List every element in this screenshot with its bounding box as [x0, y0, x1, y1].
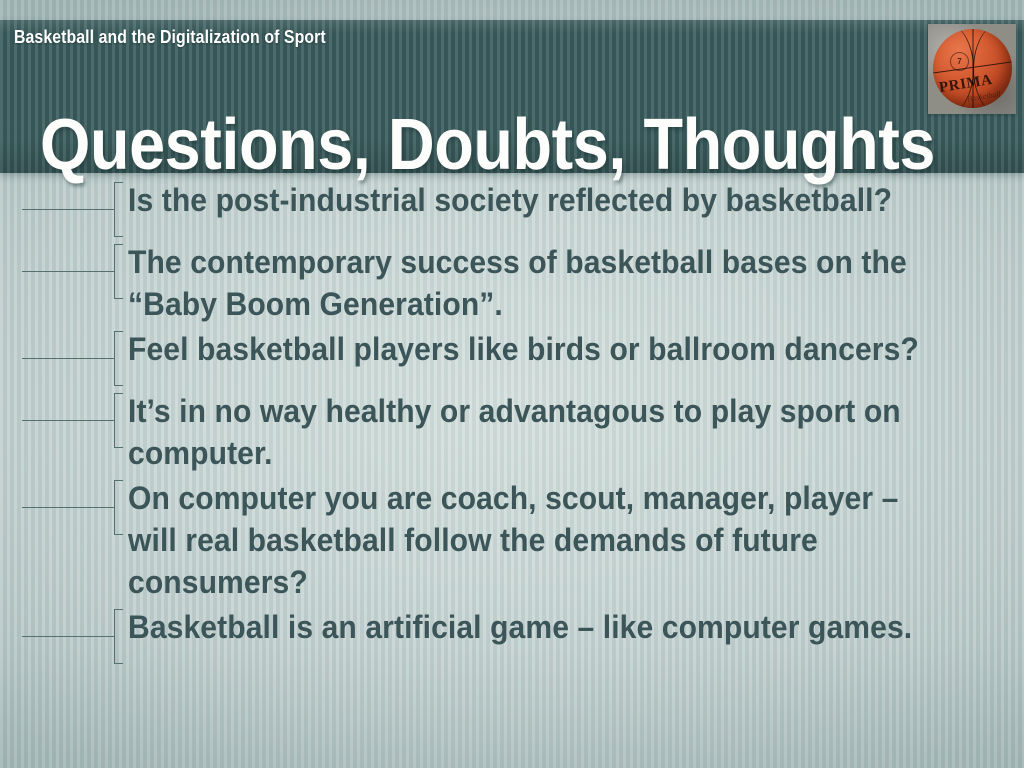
bracket-bullet-icon	[0, 393, 128, 449]
bullet-lead-line	[22, 420, 115, 421]
list-item: On computer you are coach, scout, manage…	[0, 480, 1024, 603]
list-item-text: On computer you are coach, scout, manage…	[128, 478, 970, 603]
bullet-bracket-top	[114, 244, 123, 245]
bullet-bracket-bottom	[114, 663, 123, 664]
bullet-bracket-top	[114, 480, 123, 481]
list-item: It’s in no way healthy or advantagous to…	[0, 393, 1024, 474]
presentation-slide: Basketball and the Digitalization of Spo…	[0, 0, 1024, 768]
basketball-photo: 7 PRIMA Basketball	[928, 24, 1016, 114]
bullet-bracket-stem	[114, 393, 115, 448]
list-item: Is the post-industrial society reflected…	[0, 182, 1024, 238]
list-item-text: Basketball is an artificial game – like …	[128, 607, 970, 649]
bullet-lead-line	[22, 271, 115, 272]
bullet-bracket-stem	[114, 331, 115, 386]
bracket-bullet-icon	[0, 244, 128, 300]
presentation-subtitle: Basketball and the Digitalization of Spo…	[14, 28, 326, 46]
list-item: Basketball is an artificial game – like …	[0, 609, 1024, 665]
bracket-bullet-icon	[0, 182, 128, 238]
list-item-text: Is the post-industrial society reflected…	[128, 180, 970, 222]
bullet-bracket-bottom	[114, 298, 123, 299]
list-item-text: It’s in no way healthy or advantagous to…	[128, 391, 970, 474]
bullet-bracket-stem	[114, 182, 115, 237]
list-item: The contemporary success of basketball b…	[0, 244, 1024, 325]
bracket-bullet-icon	[0, 609, 128, 665]
bullet-bracket-stem	[114, 480, 115, 535]
bullet-bracket-bottom	[114, 534, 123, 535]
list-item: Feel basketball players like birds or ba…	[0, 331, 1024, 387]
bullet-bracket-bottom	[114, 385, 123, 386]
bullet-list: Is the post-industrial society reflected…	[0, 182, 1024, 671]
page-title: Questions, Doubts, Thoughts	[40, 109, 935, 181]
bullet-bracket-top	[114, 182, 123, 183]
list-item-text: The contemporary success of basketball b…	[128, 242, 970, 325]
basketball-icon: 7 PRIMA Basketball	[933, 29, 1012, 108]
ball-size-stamp: 7	[950, 52, 969, 71]
bullet-lead-line	[22, 636, 115, 637]
bullet-bracket-bottom	[114, 236, 123, 237]
bullet-lead-line	[22, 507, 115, 508]
list-item-text: Feel basketball players like birds or ba…	[128, 329, 970, 371]
bullet-bracket-bottom	[114, 447, 123, 448]
bullet-bracket-top	[114, 393, 123, 394]
bullet-bracket-top	[114, 609, 123, 610]
bracket-bullet-icon	[0, 480, 128, 536]
bullet-lead-line	[22, 358, 115, 359]
bullet-bracket-stem	[114, 244, 115, 299]
bullet-bracket-stem	[114, 609, 115, 664]
bullet-lead-line	[22, 209, 115, 210]
bullet-bracket-top	[114, 331, 123, 332]
bracket-bullet-icon	[0, 331, 128, 387]
